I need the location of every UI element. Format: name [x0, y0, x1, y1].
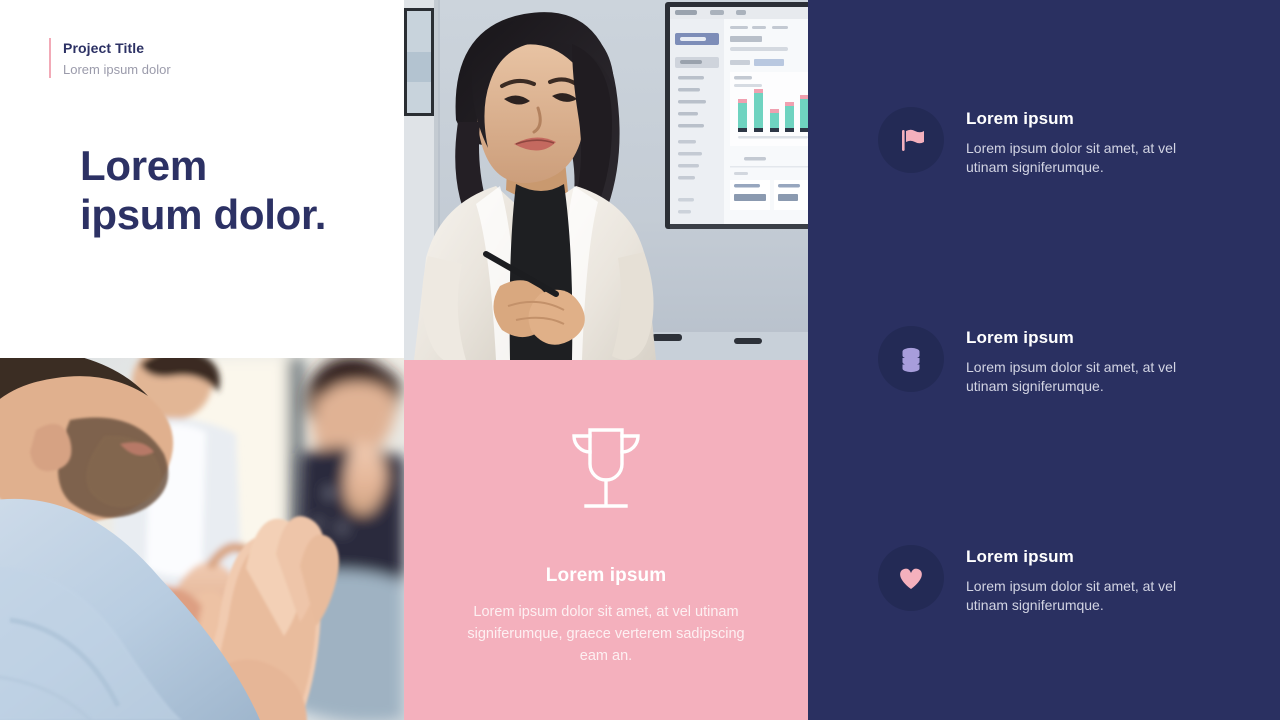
slide-canvas: Project Title Lorem ipsum dolor Lorem ip… — [0, 0, 1280, 720]
feature-icon-circle-1 — [878, 107, 944, 173]
audience-applause-photo — [0, 358, 404, 720]
feature-item-1[interactable]: Lorem ipsum Lorem ipsum dolor sit amet, … — [878, 107, 1206, 177]
project-subtitle: Lorem ipsum dolor — [63, 61, 171, 79]
feature-title-1: Lorem ipsum — [966, 109, 1206, 129]
highlight-card-title: Lorem ipsum — [546, 565, 666, 587]
highlight-card-body: Lorem ipsum dolor sit amet, at vel utina… — [456, 601, 756, 667]
project-title: Project Title — [63, 40, 171, 56]
feature-body-2: Lorem ipsum dolor sit amet, at vel utina… — [966, 358, 1206, 396]
heart-icon — [896, 564, 926, 592]
database-icon — [898, 345, 924, 373]
headline-line-1: Lorem — [80, 142, 390, 191]
title-block: Project Title Lorem ipsum dolor Lorem ip… — [0, 0, 404, 358]
feature-body-1: Lorem ipsum dolor sit amet, at vel utina… — [966, 139, 1206, 177]
feature-title-3: Lorem ipsum — [966, 547, 1206, 567]
feature-icon-circle-3 — [878, 545, 944, 611]
feature-title-2: Lorem ipsum — [966, 328, 1206, 348]
feature-body-3: Lorem ipsum dolor sit amet, at vel utina… — [966, 577, 1206, 615]
feature-icon-circle-2 — [878, 326, 944, 392]
page-title: Lorem ipsum dolor. — [80, 142, 390, 239]
highlight-card: Lorem ipsum Lorem ipsum dolor sit amet, … — [404, 360, 808, 720]
presenter-photo — [404, 0, 808, 360]
trophy-icon — [566, 426, 646, 517]
flag-icon — [897, 126, 925, 154]
breadcrumb: Project Title Lorem ipsum dolor — [49, 38, 171, 79]
feature-item-3[interactable]: Lorem ipsum Lorem ipsum dolor sit amet, … — [878, 545, 1206, 615]
feature-item-2[interactable]: Lorem ipsum Lorem ipsum dolor sit amet, … — [878, 326, 1206, 396]
headline-line-2: ipsum dolor. — [80, 191, 390, 240]
accent-bar-icon — [49, 38, 51, 78]
feature-panel: Lorem ipsum Lorem ipsum dolor sit amet, … — [808, 0, 1280, 720]
